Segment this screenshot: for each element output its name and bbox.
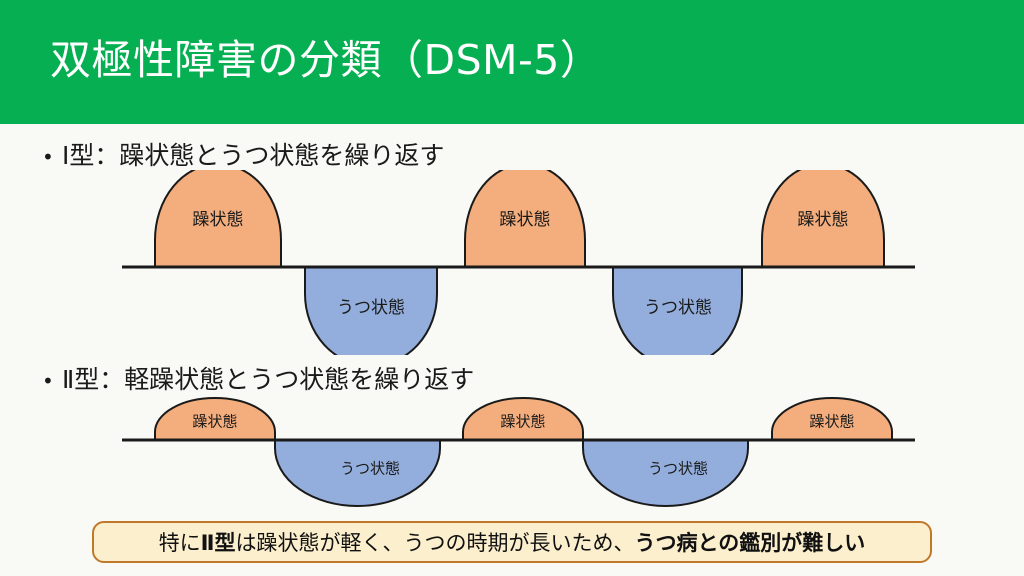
bullet-marker: • [42,365,62,397]
bipolar-type-2-mood-chart: 躁状態 躁状態 躁状態 うつ状態 うつ状態 [0,395,1024,510]
bullet-label-type2: Ⅱ型：軽躁状態とうつ状態を繰り返す [62,364,474,396]
callout-text-bold2: うつ病との鑑別が難しい [635,527,866,557]
page-title: 双極性障害の分類（DSM-5） [50,30,601,90]
bipolar-type-1-mood-chart: 躁状態 躁状態 躁状態 うつ状態 うつ状態 [0,170,1024,355]
callout-text-bold1: Ⅱ型 [201,527,236,557]
mania-label-1: 躁状態 [193,210,244,230]
hypomania-label-2: 躁状態 [500,413,545,431]
depression-label-1: うつ状態 [337,298,405,318]
depression-label-2: うつ状態 [644,298,712,318]
callout-text-part2: は躁状態が軽く、うつの時期が長いため、 [236,527,635,557]
hypomania-label-3: 躁状態 [809,413,854,431]
bullet-item-type2: • Ⅱ型：軽躁状態とうつ状態を繰り返す [42,364,474,397]
hypomania-label-1: 躁状態 [192,413,237,431]
bullet-marker: • [42,141,62,173]
bullet-item-type1: • Ⅰ型：躁状態とうつ状態を繰り返す [42,140,444,173]
callout-box: 特にⅡ型は躁状態が軽く、うつの時期が長いため、うつ病との鑑別が難しい [92,521,932,563]
depression-label-2: うつ状態 [648,460,708,478]
callout-text-part1: 特に [159,527,201,557]
bullet-label-type1: Ⅰ型：躁状態とうつ状態を繰り返す [62,140,444,172]
slide-root: 双極性障害の分類（DSM-5） • Ⅰ型：躁状態とうつ状態を繰り返す 躁状態 躁… [0,0,1024,576]
mania-label-2: 躁状態 [500,210,551,230]
mania-label-3: 躁状態 [798,210,849,230]
depression-label-1: うつ状態 [340,460,400,478]
